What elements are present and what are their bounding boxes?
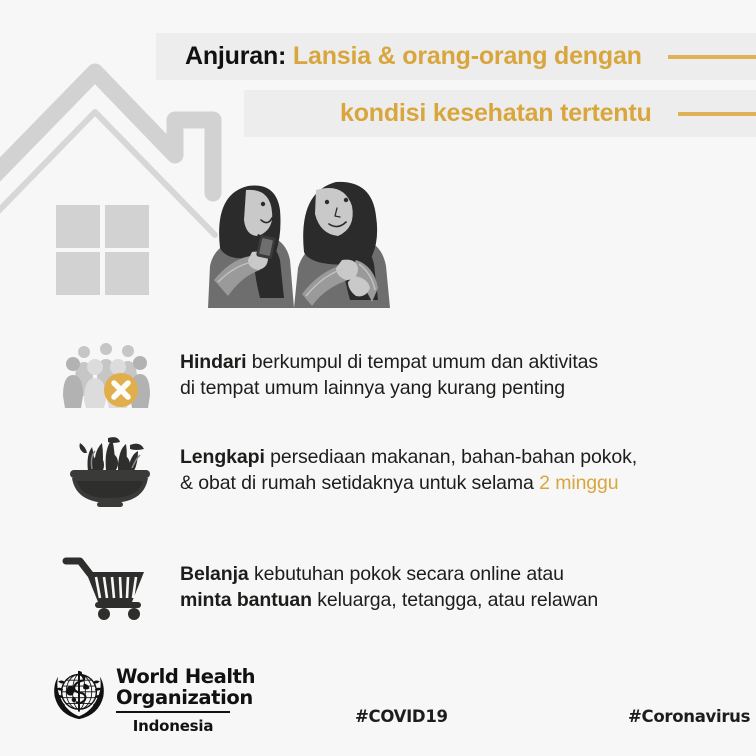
who-country-label: Indonesia bbox=[116, 717, 230, 735]
bullet-line2: di tempat umum lainnya yang kurang penti… bbox=[180, 375, 598, 401]
food-bowl-icon bbox=[60, 435, 160, 509]
header-rule-line2 bbox=[678, 112, 756, 116]
bullet-line1-rest: berkumpul di tempat umum dan aktivitas bbox=[246, 351, 598, 373]
bullet-row: Hindari berkumpul di tempat umum dan akt… bbox=[0, 340, 756, 408]
who-emblem-icon bbox=[50, 664, 108, 722]
header-line1-text: Anjuran: Lansia & orang-orang dengan bbox=[185, 42, 642, 71]
bullet-keyword: Belanja bbox=[180, 563, 249, 585]
who-wordmark: World Health Organization Indonesia bbox=[116, 664, 255, 735]
bullet-line2-accent: 2 minggu bbox=[539, 472, 618, 494]
crowd-no-gathering-icon bbox=[60, 340, 160, 408]
bullet-line2: & obat di rumah setidaknya untuk selama … bbox=[180, 470, 637, 496]
two-women-illustration bbox=[196, 148, 396, 308]
bullet-line1: Lengkapi persediaan makanan, bahan-bahan… bbox=[180, 444, 637, 470]
bullet-text: Hindari berkumpul di tempat umum dan akt… bbox=[180, 340, 598, 401]
bullet-line1: Belanja kebutuhan pokok secara online at… bbox=[180, 561, 598, 587]
bullet-text: Lengkapi persediaan makanan, bahan-bahan… bbox=[180, 435, 637, 496]
header-label: Anjuran: bbox=[185, 42, 286, 70]
who-name-line2: Organization bbox=[116, 687, 255, 708]
bullet-line1-rest: persediaan makanan, bahan-bahan pokok, bbox=[265, 446, 637, 468]
header-line2-text: kondisi kesehatan tertentu bbox=[340, 99, 652, 128]
hashtag-coronavirus: #Coronavirus bbox=[628, 707, 750, 726]
woman-right bbox=[294, 182, 390, 308]
bullet-keyword: Lengkapi bbox=[180, 446, 265, 468]
who-logo: World Health Organization Indonesia bbox=[50, 664, 255, 735]
header-bar-line1: Anjuran: Lansia & orang-orang dengan bbox=[156, 33, 756, 80]
bullet-line1-rest: kebutuhan pokok secara online atau bbox=[249, 563, 564, 585]
bullet-row: Belanja kebutuhan pokok secara online at… bbox=[0, 552, 756, 620]
bullet-keyword-2: minta bantuan bbox=[180, 589, 312, 611]
bullet-line2-pre: & obat di rumah setidaknya untuk selama bbox=[180, 472, 539, 494]
header-line1-accent: Lansia & orang-orang dengan bbox=[293, 42, 642, 70]
who-divider bbox=[116, 711, 230, 713]
bullet-line2-rest: keluarga, tetangga, atau relawan bbox=[312, 589, 598, 611]
who-name-line1: World Health bbox=[116, 666, 255, 687]
hashtag-covid19: #COVID19 bbox=[355, 707, 448, 726]
woman-left bbox=[208, 186, 294, 309]
header-rule-line1 bbox=[668, 55, 756, 59]
house-window-icon bbox=[56, 205, 149, 295]
header-line2-accent: kondisi kesehatan tertentu bbox=[340, 99, 652, 127]
bullet-keyword: Hindari bbox=[180, 351, 246, 373]
bullet-line2: minta bantuan keluarga, tetangga, atau r… bbox=[180, 587, 598, 613]
bullet-line1: Hindari berkumpul di tempat umum dan akt… bbox=[180, 349, 598, 375]
header-bar-line2: kondisi kesehatan tertentu bbox=[244, 90, 756, 137]
shopping-cart-icon bbox=[60, 552, 160, 620]
bullet-text: Belanja kebutuhan pokok secara online at… bbox=[180, 552, 598, 613]
bullet-row: Lengkapi persediaan makanan, bahan-bahan… bbox=[0, 435, 756, 509]
